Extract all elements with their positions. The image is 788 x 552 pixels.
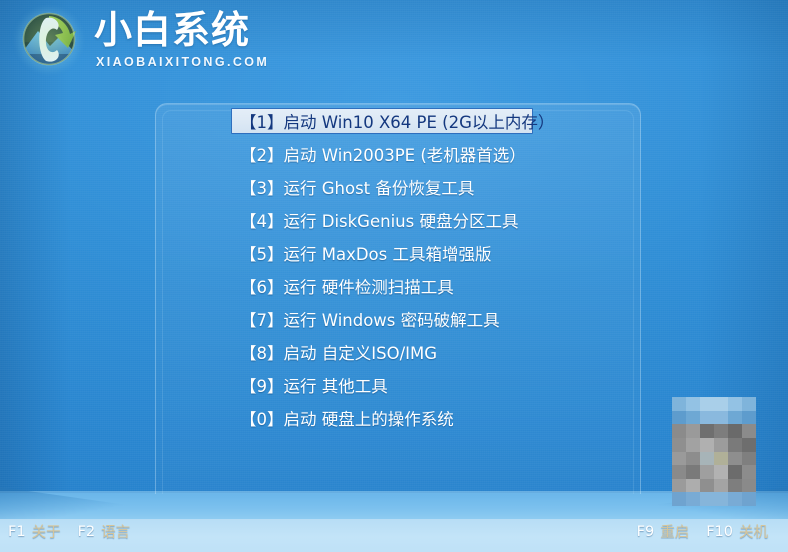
circular-refresh-logo-icon [10, 4, 88, 76]
function-key-hints-left: F1关于F2语言 [8, 521, 140, 542]
brand-logo: 小白系统 XIAOBAIXITONG.COM [10, 4, 269, 76]
mosaic-tile [686, 452, 700, 466]
mosaic-tile [672, 479, 686, 493]
mosaic-tile [742, 438, 756, 452]
mosaic-tile [672, 438, 686, 452]
mosaic-tile [728, 411, 742, 425]
mosaic-tile [672, 411, 686, 425]
hint-action-label: 关机 [739, 521, 768, 542]
mosaic-tile [714, 465, 728, 479]
boot-menu-item-5[interactable]: 【5】运行 MaxDos 工具箱增强版 [231, 240, 541, 266]
brand-name-en: XIAOBAIXITONG.COM [96, 56, 269, 69]
mosaic-tile [714, 452, 728, 466]
mosaic-tile [742, 452, 756, 466]
hint-action-label: 重启 [660, 521, 689, 542]
mosaic-tile [672, 452, 686, 466]
brand-name-cn: 小白系统 [94, 11, 269, 49]
boot-menu-item-8[interactable]: 【8】启动 自定义ISO/IMG [231, 339, 541, 365]
boot-menu-item-6[interactable]: 【6】运行 硬件检测扫描工具 [231, 273, 541, 299]
mosaic-tile [672, 465, 686, 479]
mosaic-tile [714, 424, 728, 438]
mosaic-tile [700, 479, 714, 493]
mosaic-tile [686, 438, 700, 452]
hint-f2[interactable]: F2语言 [78, 521, 131, 542]
hint-key-label: F2 [78, 524, 96, 540]
mosaic-tile [700, 492, 714, 506]
logo-glow [14, 6, 84, 74]
hint-key-label: F10 [706, 524, 733, 540]
mosaic-tile [700, 397, 714, 411]
mosaic-tile [742, 411, 756, 425]
hint-key-label: F9 [637, 524, 655, 540]
boot-menu-item-4[interactable]: 【4】运行 DiskGenius 硬盘分区工具 [231, 207, 541, 233]
mosaic-tile [728, 479, 742, 493]
mosaic-tile [686, 397, 700, 411]
mosaic-tile [742, 479, 756, 493]
mosaic-tile [700, 438, 714, 452]
mosaic-tile [742, 397, 756, 411]
boot-menu-item-9[interactable]: 【9】运行 其他工具 [231, 372, 541, 398]
mosaic-tile [728, 424, 742, 438]
mosaic-tile [728, 452, 742, 466]
mosaic-tile [742, 424, 756, 438]
mosaic-tile [672, 492, 686, 506]
hint-action-label: 语言 [101, 521, 130, 542]
mosaic-tile [700, 465, 714, 479]
hint-f9[interactable]: F9重启 [637, 521, 690, 542]
boot-menu-item-3[interactable]: 【3】运行 Ghost 备份恢复工具 [231, 174, 541, 200]
mosaic-tile [686, 479, 700, 493]
mosaic-tile [714, 411, 728, 425]
mosaic-tile [728, 492, 742, 506]
hint-f10[interactable]: F10关机 [706, 521, 768, 542]
mosaic-tile [742, 492, 756, 506]
mosaic-tile [672, 424, 686, 438]
boot-menu-item-0[interactable]: 【0】启动 硬盘上的操作系统 [231, 405, 541, 431]
brand-logo-text: 小白系统 XIAOBAIXITONG.COM [94, 11, 269, 69]
boot-menu-item-1[interactable]: 【1】启动 Win10 X64 PE (2G以上内存） [231, 108, 533, 134]
mosaic-tile [686, 424, 700, 438]
hint-f1[interactable]: F1关于 [8, 521, 61, 542]
mosaic-tile [714, 479, 728, 493]
mosaic-tile [714, 397, 728, 411]
mosaic-tile [700, 424, 714, 438]
mosaic-tile [700, 411, 714, 425]
boot-menu-item-7[interactable]: 【7】运行 Windows 密码破解工具 [231, 306, 541, 332]
boot-menu-item-2[interactable]: 【2】启动 Win2003PE (老机器首选） [231, 141, 541, 167]
mosaic-tile [728, 397, 742, 411]
function-key-hints-right: F9重启F10关机 [637, 521, 778, 542]
mosaic-tile [686, 492, 700, 506]
mosaic-tile [742, 465, 756, 479]
mosaic-tile [728, 465, 742, 479]
mosaic-tile [714, 492, 728, 506]
mosaic-tile [686, 411, 700, 425]
mosaic-tile [672, 397, 686, 411]
hint-key-label: F1 [8, 524, 26, 540]
hint-action-label: 关于 [32, 521, 61, 542]
boot-menu-list[interactable]: 【1】启动 Win10 X64 PE (2G以上内存）【2】启动 Win2003… [231, 108, 541, 438]
mosaic-tile [714, 438, 728, 452]
censored-mosaic-block [672, 397, 756, 506]
mosaic-tile [686, 465, 700, 479]
mosaic-tile [700, 452, 714, 466]
mosaic-tile [728, 438, 742, 452]
